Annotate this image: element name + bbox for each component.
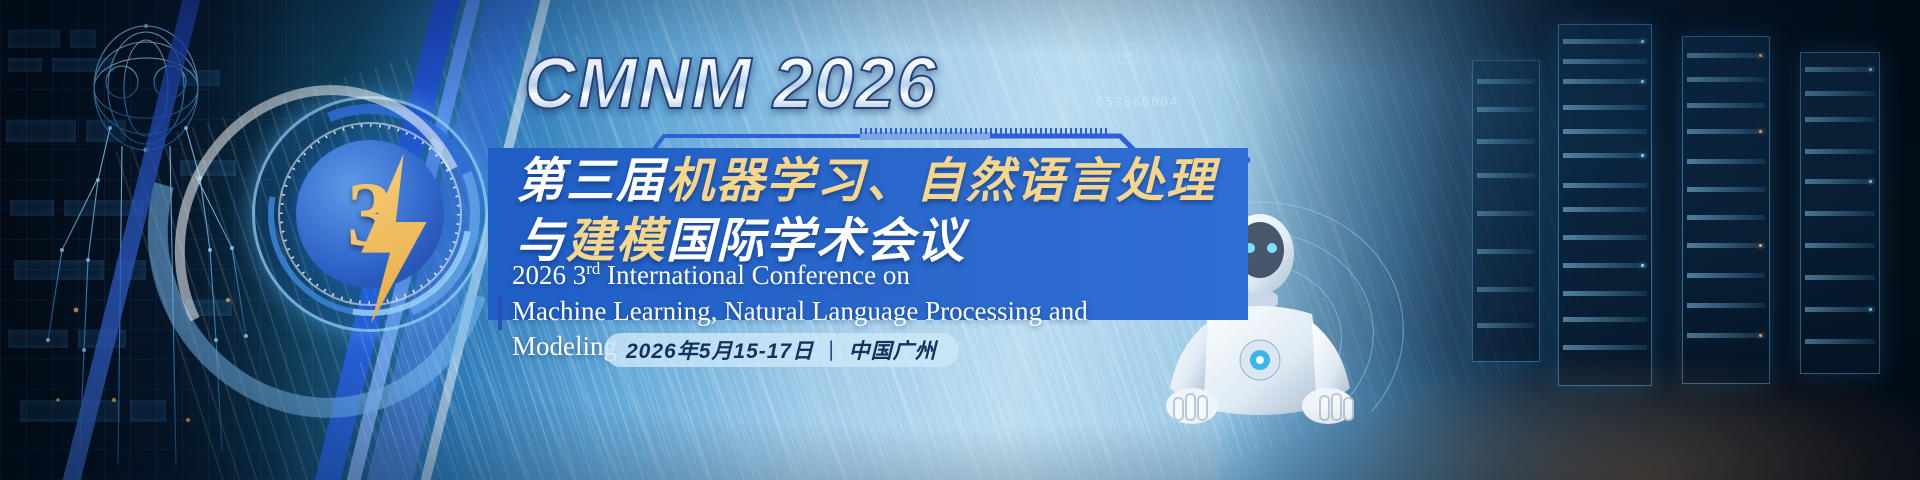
event-date: 2026年5月15-17日: [626, 335, 814, 365]
event-separator: |: [828, 338, 834, 362]
english-subtitle-line1-rest: International Conference on: [607, 260, 910, 290]
event-location: 中国广州: [849, 335, 937, 365]
watermark-serial: 053365864: [1096, 94, 1179, 109]
chinese-title-line-1: 第三届机器学习、自然语言处理: [516, 158, 1216, 206]
english-subtitle-accent-bar: [498, 296, 502, 330]
chinese-title-line1-white: 第三届: [516, 155, 666, 208]
english-year: 2026: [512, 260, 566, 290]
english-subtitle-line-1: 2026 3rd International Conference on: [512, 258, 1132, 294]
chinese-title-line1-gold: 机器学习、自然语言处理: [666, 155, 1216, 208]
acronym-title: CMNM 2026: [524, 48, 937, 120]
english-ordinal-number: 3: [573, 260, 587, 290]
conference-banner: 053365864 3: [0, 0, 1920, 480]
english-ordinal-suffix: rd: [586, 259, 600, 278]
dotted-trace: [860, 128, 1110, 134]
event-date-location-pill: 2026年5月15-17日 | 中国广州: [604, 333, 959, 367]
hud-square-icon: [1118, 44, 1138, 64]
